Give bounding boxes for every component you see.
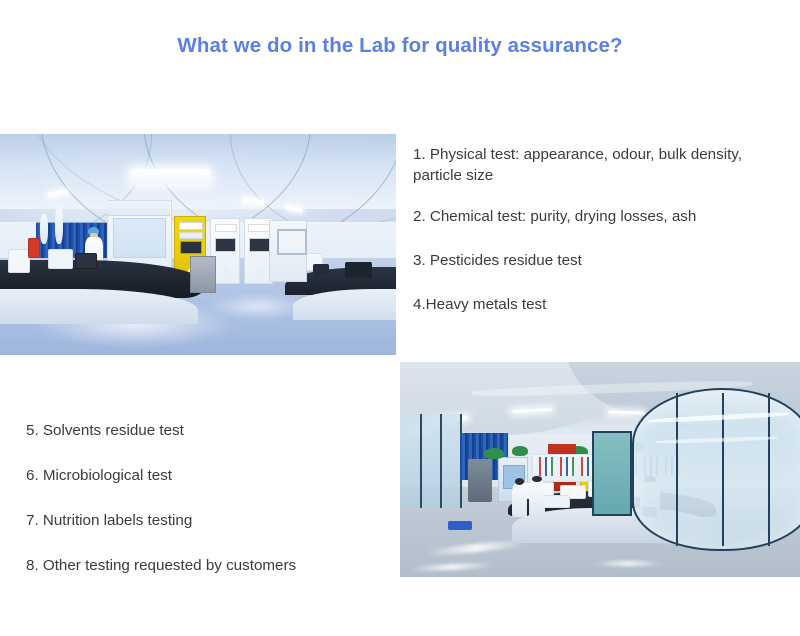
list-item: 7. Nutrition labels testing — [26, 510, 396, 531]
gray-cabinet — [190, 256, 216, 293]
cabinet-label — [179, 222, 204, 229]
glass-mullion — [440, 414, 442, 509]
gray-cabinet — [468, 459, 492, 502]
cabinet-label — [179, 232, 204, 239]
list-item: 8. Other testing requested by customers — [26, 555, 396, 576]
wall-picture-frame — [277, 229, 307, 255]
blue-floor-crate — [448, 521, 472, 530]
potted-plant — [484, 448, 504, 459]
hazard-triangle-icon — [220, 264, 232, 274]
lab-equipment — [48, 249, 74, 269]
computer-monitor — [313, 264, 329, 275]
list-item: 1. Physical test: appearance, odour, bul… — [413, 144, 795, 186]
ceiling-pendant — [55, 207, 63, 245]
quality-assurance-infographic: What we do in the Lab for quality assura… — [0, 0, 800, 636]
seated-technicians-group — [512, 474, 560, 517]
floor-light-reflection — [592, 561, 664, 566]
list-item: 3. Pesticides residue test — [413, 250, 795, 271]
lab-scene-bottom — [400, 362, 800, 577]
page-title: What we do in the Lab for quality assura… — [0, 34, 800, 58]
glass-door — [592, 431, 632, 517]
glass-mullion — [676, 393, 678, 546]
lab-panorama-bottom-image — [400, 362, 800, 577]
cabinet-window — [180, 241, 202, 254]
glass-partition-left — [400, 414, 462, 509]
fume-hood-top-panel — [107, 201, 170, 215]
cabinet-label — [215, 224, 237, 232]
list-item: 6. Microbiological test — [26, 465, 396, 486]
curved-glass-partition — [632, 388, 800, 551]
glass-reflection — [655, 435, 778, 443]
list-item: 5. Solvents residue test — [26, 420, 396, 441]
test-list-right: 1. Physical test: appearance, odour, bul… — [413, 144, 795, 338]
list-item: 2. Chemical test: purity, drying losses,… — [413, 206, 795, 227]
computer-monitor — [345, 262, 373, 277]
technician-lab-coat — [529, 480, 544, 517]
lab-equipment — [8, 249, 30, 273]
test-list-bottom: 5. Solvents residue test 6. Microbiologi… — [26, 420, 396, 600]
hazard-triangle-icon — [253, 264, 265, 274]
cabinet-window — [215, 238, 236, 252]
lab-equipment — [75, 253, 97, 268]
potted-plant — [512, 446, 528, 456]
fume-hood-sash — [113, 218, 166, 258]
ceiling-skylight — [131, 169, 210, 183]
lab-scene-top — [0, 134, 396, 355]
ceiling-pendant — [40, 214, 48, 245]
lab-panorama-top-image — [0, 134, 396, 355]
cabinet-label — [248, 224, 270, 232]
technician-head — [532, 476, 542, 483]
list-item: 4.Heavy metals test — [413, 294, 795, 315]
fire-extinguisher — [28, 238, 40, 258]
cabinet-window — [249, 238, 270, 252]
glass-mullion — [420, 414, 422, 509]
technician-lab-coat — [512, 483, 527, 517]
